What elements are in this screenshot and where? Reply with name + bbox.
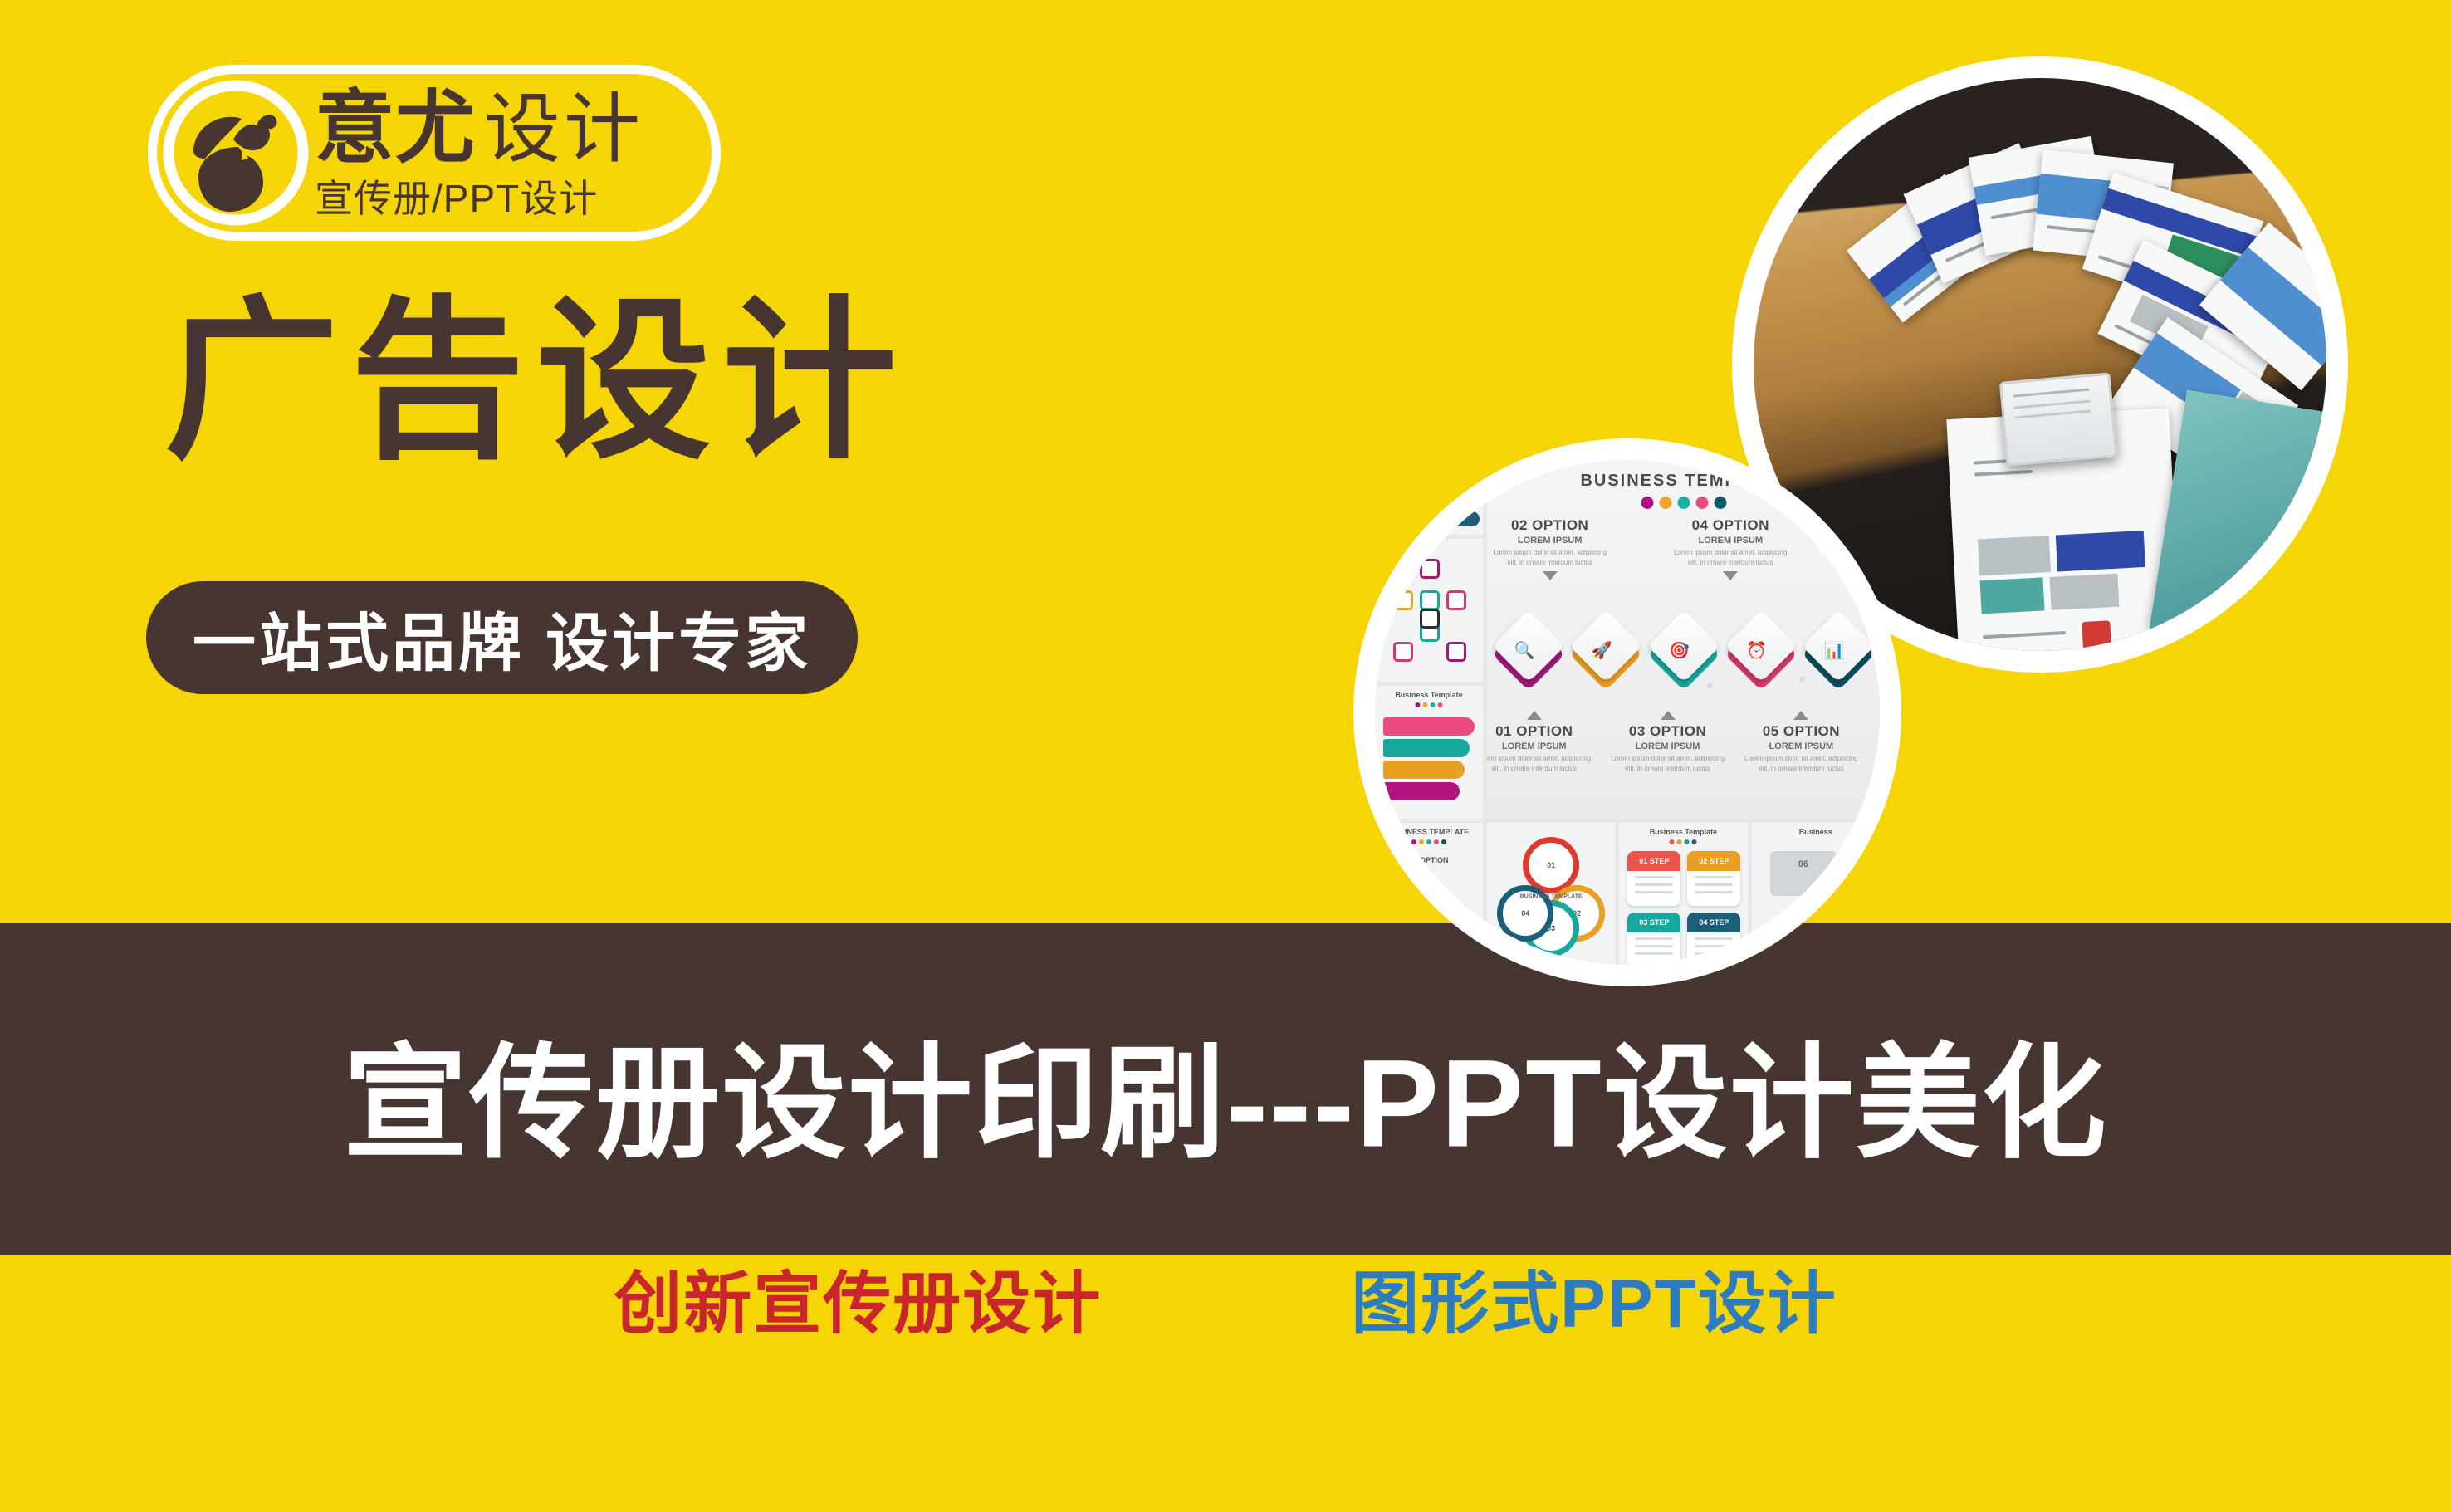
ppt-template-grid: BUSINESS TEMPLATE 02 OPTION LOREM IPSUM … — [1375, 460, 1880, 965]
bird-leaf-mark-icon — [162, 79, 310, 227]
mini-slide-hero-options: BUSINESS TEMPLATE 02 OPTION LOREM IPSUM … — [1487, 460, 1880, 819]
option-diamond-row: 🔍 🚀 🎯 ⏰ — [1503, 629, 1864, 680]
brand-name-bold: 意尤 — [315, 89, 476, 169]
page-title: 广告设计 — [164, 295, 908, 469]
advertising-banner: 意尤 设计 宣传册/PPT设计 广告设计 一站式品牌 设计专家 宣传册设计印刷-… — [0, 0, 2451, 1512]
brand-wordmark: 意尤 设计 宣传册/PPT设计 — [315, 89, 643, 218]
brand-logo-lockup[interactable]: 意尤 设计 宣传册/PPT设计 — [148, 65, 721, 241]
service-link-ppt[interactable]: 图形式PPT设计 — [1351, 1270, 1837, 1338]
mini-slide-funnel: Business Template — [1375, 686, 1483, 819]
mini-slide-chevron-list — [1375, 460, 1483, 535]
option-diamond-02: 🚀 — [1580, 629, 1632, 680]
hero-slide-title: BUSINESS TEMPLATE — [1487, 472, 1880, 491]
service-band-text: 宣传册设计印刷---PPT设计美化 — [343, 1003, 2108, 1183]
mini-slide-node-map — [1375, 539, 1483, 682]
step-card-02: 02 STEP — [1687, 851, 1740, 906]
step-card-03: 03 STEP — [1627, 913, 1680, 965]
brand-title-row: 意尤 设计 — [315, 89, 643, 169]
option-diamond-03: 🎯 — [1658, 629, 1710, 680]
hero-dot-row — [1641, 497, 1726, 509]
brand-name-light: 设计 — [484, 91, 643, 168]
service-links-row: 创新宣传册设计 图形式PPT设计 — [0, 1270, 2451, 1338]
option-label-03: 03 OPTION LOREM IPSUM Lorem ipsum dolor … — [1606, 707, 1730, 774]
mini-slide-business-map: Business 06 — [1752, 823, 1880, 965]
service-link-brochure[interactable]: 创新宣传册设计 — [614, 1270, 1102, 1338]
option-label-02: 02 OPTION LOREM IPSUM Lorem ipsum dolor … — [1488, 517, 1612, 584]
option-diamond-04: ⏰ — [1735, 629, 1787, 680]
mini-slide-circle-cycle: 01 02 03 04 BUSINESS TEMPLATE — [1487, 823, 1615, 965]
brand-subtitle: 宣传册/PPT设计 — [315, 179, 643, 218]
photo-ppt-templates: BUSINESS TEMPLATE 02 OPTION LOREM IPSUM … — [1353, 438, 1901, 986]
business-card-holder — [1999, 372, 2117, 466]
option-diamond-01: 🔍 — [1503, 629, 1554, 680]
option-label-05: 05 OPTION LOREM IPSUM Lorem ipsum dolor … — [1739, 707, 1863, 774]
step-card-01: 01 STEP — [1627, 851, 1680, 906]
mini-slide-option-map: BUSINESS TEMPLATE 04 OPTION — [1375, 823, 1483, 965]
option-label-01: 01 OPTION LOREM IPSUM Lorem ipsum dolor … — [1487, 707, 1597, 774]
tagline-text: 一站式品牌 设计专家 — [193, 592, 811, 683]
photo-ppt-templates-inner: BUSINESS TEMPLATE 02 OPTION LOREM IPSUM … — [1375, 460, 1880, 965]
ppt-bottom-strip: BUSINESS TEMPLATE 04 OPTION — [1375, 823, 1880, 965]
option-diamond-05: 📊 — [1813, 629, 1864, 680]
mini-slide-four-step-cards: Business Template 01 STEP 02 STEP — [1619, 823, 1747, 965]
option-label-04: 04 OPTION LOREM IPSUM Lorem ipsum dolor … — [1668, 517, 1793, 584]
tagline-badge: 一站式品牌 设计专家 — [146, 581, 858, 694]
step-card-04: 04 STEP — [1687, 913, 1740, 965]
